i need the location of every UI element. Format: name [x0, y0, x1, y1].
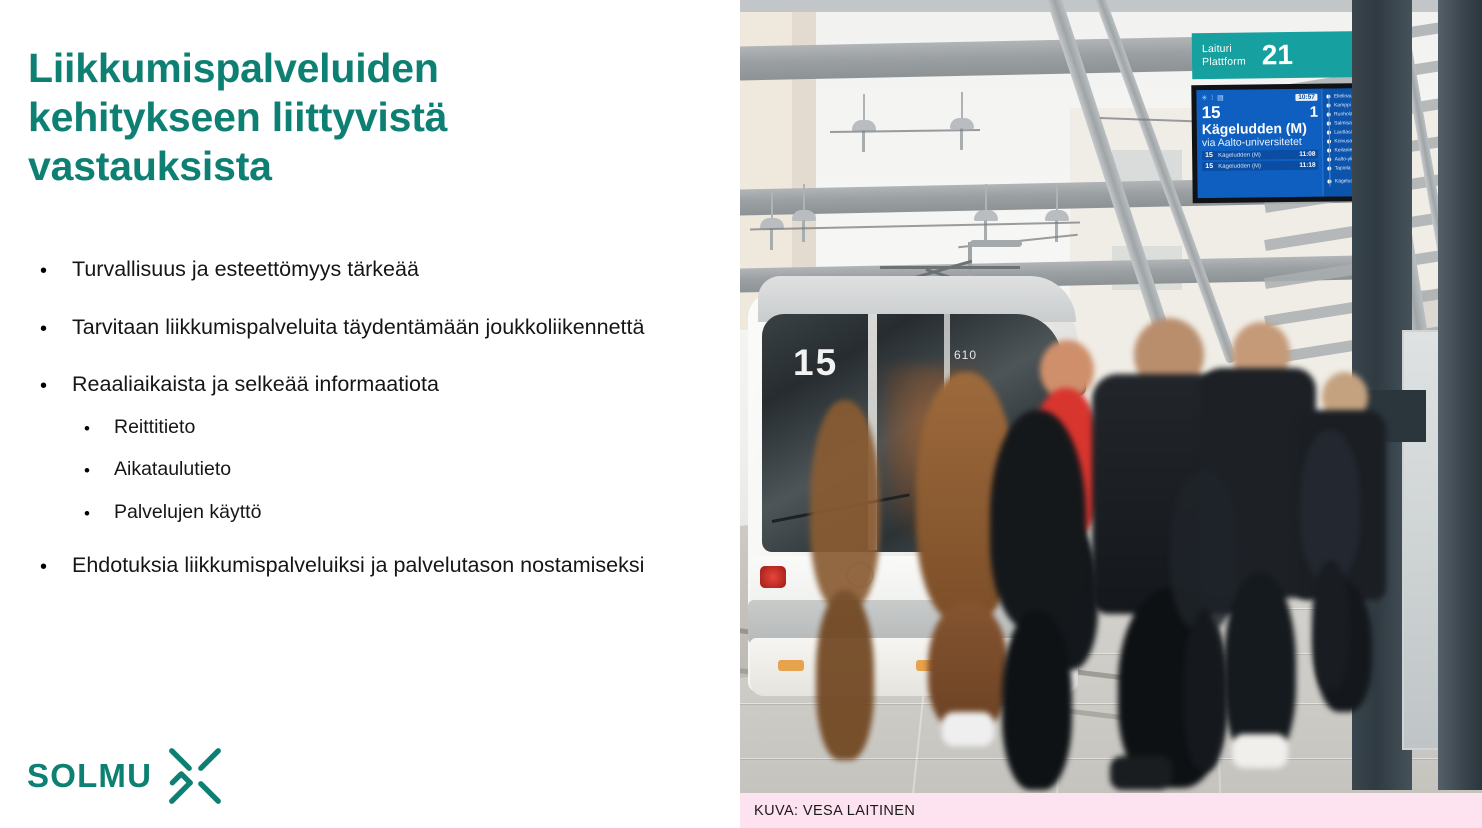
pedestrian	[800, 400, 890, 770]
pid-status-icons: ✳ ⁞ ▤	[1201, 94, 1224, 102]
pedestrian	[1300, 430, 1362, 690]
structural-column	[1438, 0, 1482, 790]
list-item-label: Turvallisuus ja esteettömyys tärkeää	[72, 255, 688, 285]
pid-main-panel: ✳ ⁞ ▤ 10:57 15 1 Kägeludden (M) via Aalt…	[1196, 89, 1323, 199]
pid-next-departure-row: 15 Kägeludden (M) 11:18	[1202, 161, 1318, 171]
solmu-logo: SOLMU	[27, 745, 226, 807]
tram-unit-number: 610	[954, 348, 977, 362]
bullet-point-icon: •	[40, 370, 72, 396]
list-item-label: Reittitieto	[114, 414, 688, 440]
bullet-point-icon: •	[40, 313, 72, 339]
list-item-label: Reaaliaikaista ja selkeää informaatiota	[72, 370, 688, 400]
bullet-point-icon: •	[84, 414, 114, 437]
pedestrian	[990, 410, 1090, 790]
platform-label-fi: Laituri	[1202, 42, 1246, 56]
solmu-arrow-mark-icon	[164, 745, 226, 807]
pid-next-line: 15	[1205, 163, 1215, 170]
logo-wordmark: SOLMU	[27, 757, 152, 795]
pid-destination: Kägeludden (M)	[1202, 121, 1319, 137]
street-lamp-arm	[970, 240, 1022, 247]
sub-bullet-list: • Reittitieto • Aikataulutieto • Palvelu…	[28, 414, 688, 525]
pid-next-dest: Kägeludden (M)	[1218, 152, 1296, 159]
bullet-point-icon: •	[84, 499, 114, 522]
bullet-list: • Turvallisuus ja esteettömyys tärkeää •…	[28, 255, 688, 581]
list-item-label: Tarvitaan liikkumispalveluita täydentämä…	[72, 313, 688, 343]
photo-scene: Laituri Plattform 21 ✳ ⁞ ▤ 10:57 15	[740, 0, 1482, 828]
pid-next-dest: Kägeludden (M)	[1218, 163, 1296, 170]
platform-label-sv: Plattform	[1202, 56, 1246, 70]
list-item: • Ehdotuksia liikkumispalveluiksi ja pal…	[28, 551, 688, 581]
pid-via: via Aalto-universitetet	[1202, 136, 1319, 149]
platform-sign-labels: Laituri Plattform	[1202, 42, 1246, 69]
list-item: • Turvallisuus ja esteettömyys tärkeää	[28, 255, 688, 285]
slide-content-pane: Liikkumispalveluiden kehitykseen liittyv…	[0, 0, 740, 828]
list-item: • Reaaliaikaista ja selkeää informaatiot…	[28, 370, 688, 400]
list-item: • Tarvitaan liikkumispalveluita täydentä…	[28, 313, 688, 343]
tram-tail-light	[760, 566, 786, 588]
photo-credit-text: KUVA: VESA LAITINEN	[754, 803, 915, 819]
list-item-label: Ehdotuksia liikkumispalveluiksi ja palve…	[72, 551, 688, 581]
page-title: Liikkumispalveluiden kehitykseen liittyv…	[28, 44, 658, 190]
list-item-label: Palvelujen käyttö	[114, 499, 688, 525]
bullet-point-icon: •	[84, 456, 114, 479]
tram-destination-number: 15	[793, 342, 838, 384]
photo-tram-platform: Laituri Plattform 21 ✳ ⁞ ▤ 10:57 15	[740, 0, 1482, 828]
platform-number: 21	[1262, 41, 1293, 69]
pid-next-time: 11:08	[1299, 151, 1315, 158]
pid-next-time: 11:18	[1299, 162, 1315, 169]
pid-next-departure-row: 15 Kägeludden (M) 11:08	[1202, 150, 1318, 160]
photo-credit-bar: KUVA: VESA LAITINEN	[740, 793, 1482, 828]
presentation-slide: Liikkumispalveluiden kehitykseen liittyv…	[0, 0, 1482, 828]
bullet-point-icon: •	[40, 551, 72, 577]
list-item: • Reittitieto	[28, 414, 688, 440]
bullet-point-icon: •	[40, 255, 72, 281]
pedestrian	[1170, 470, 1240, 770]
list-item-label: Aikataulutieto	[114, 456, 688, 482]
pid-next-line: 15	[1205, 152, 1215, 159]
list-item: • Palvelujen käyttö	[28, 499, 688, 525]
list-item: • Aikataulutieto	[28, 456, 688, 482]
pid-clock: 10:57	[1295, 93, 1318, 100]
pid-track-number: 1	[1310, 105, 1319, 120]
pid-line-block: 15 1	[1202, 103, 1319, 121]
pid-line-number: 15	[1202, 104, 1221, 121]
pid-topbar: ✳ ⁞ ▤ 10:57	[1201, 92, 1318, 103]
